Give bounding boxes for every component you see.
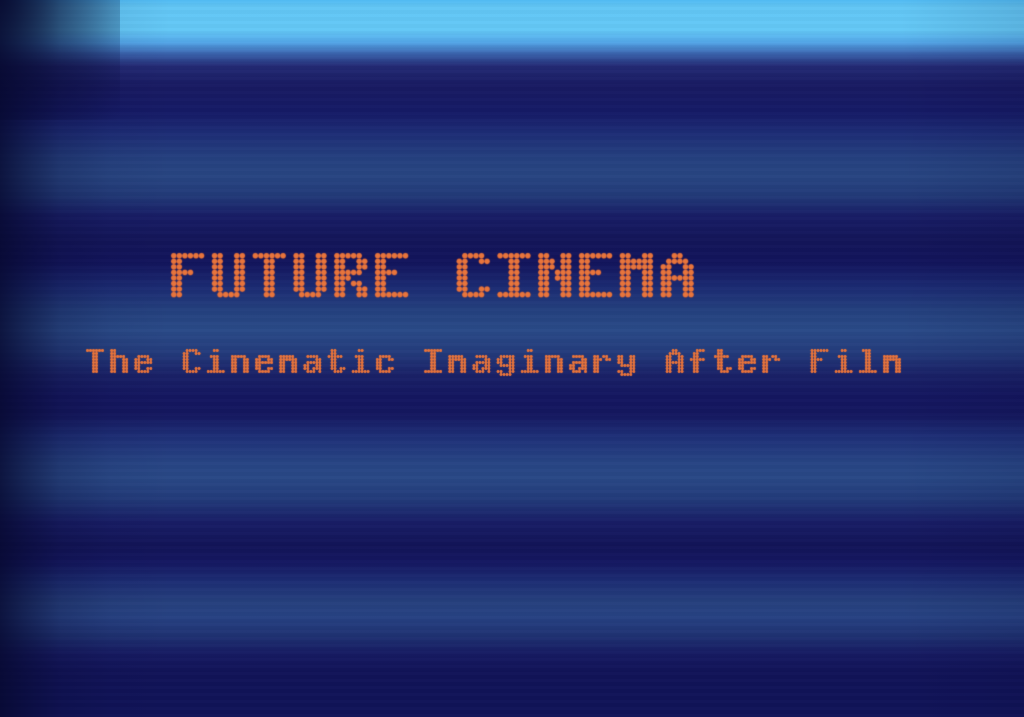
title-slide: FUTURE CINEMA The Cinematic Imaginary Af… — [0, 0, 1024, 717]
background-scan-bands — [0, 0, 1024, 717]
